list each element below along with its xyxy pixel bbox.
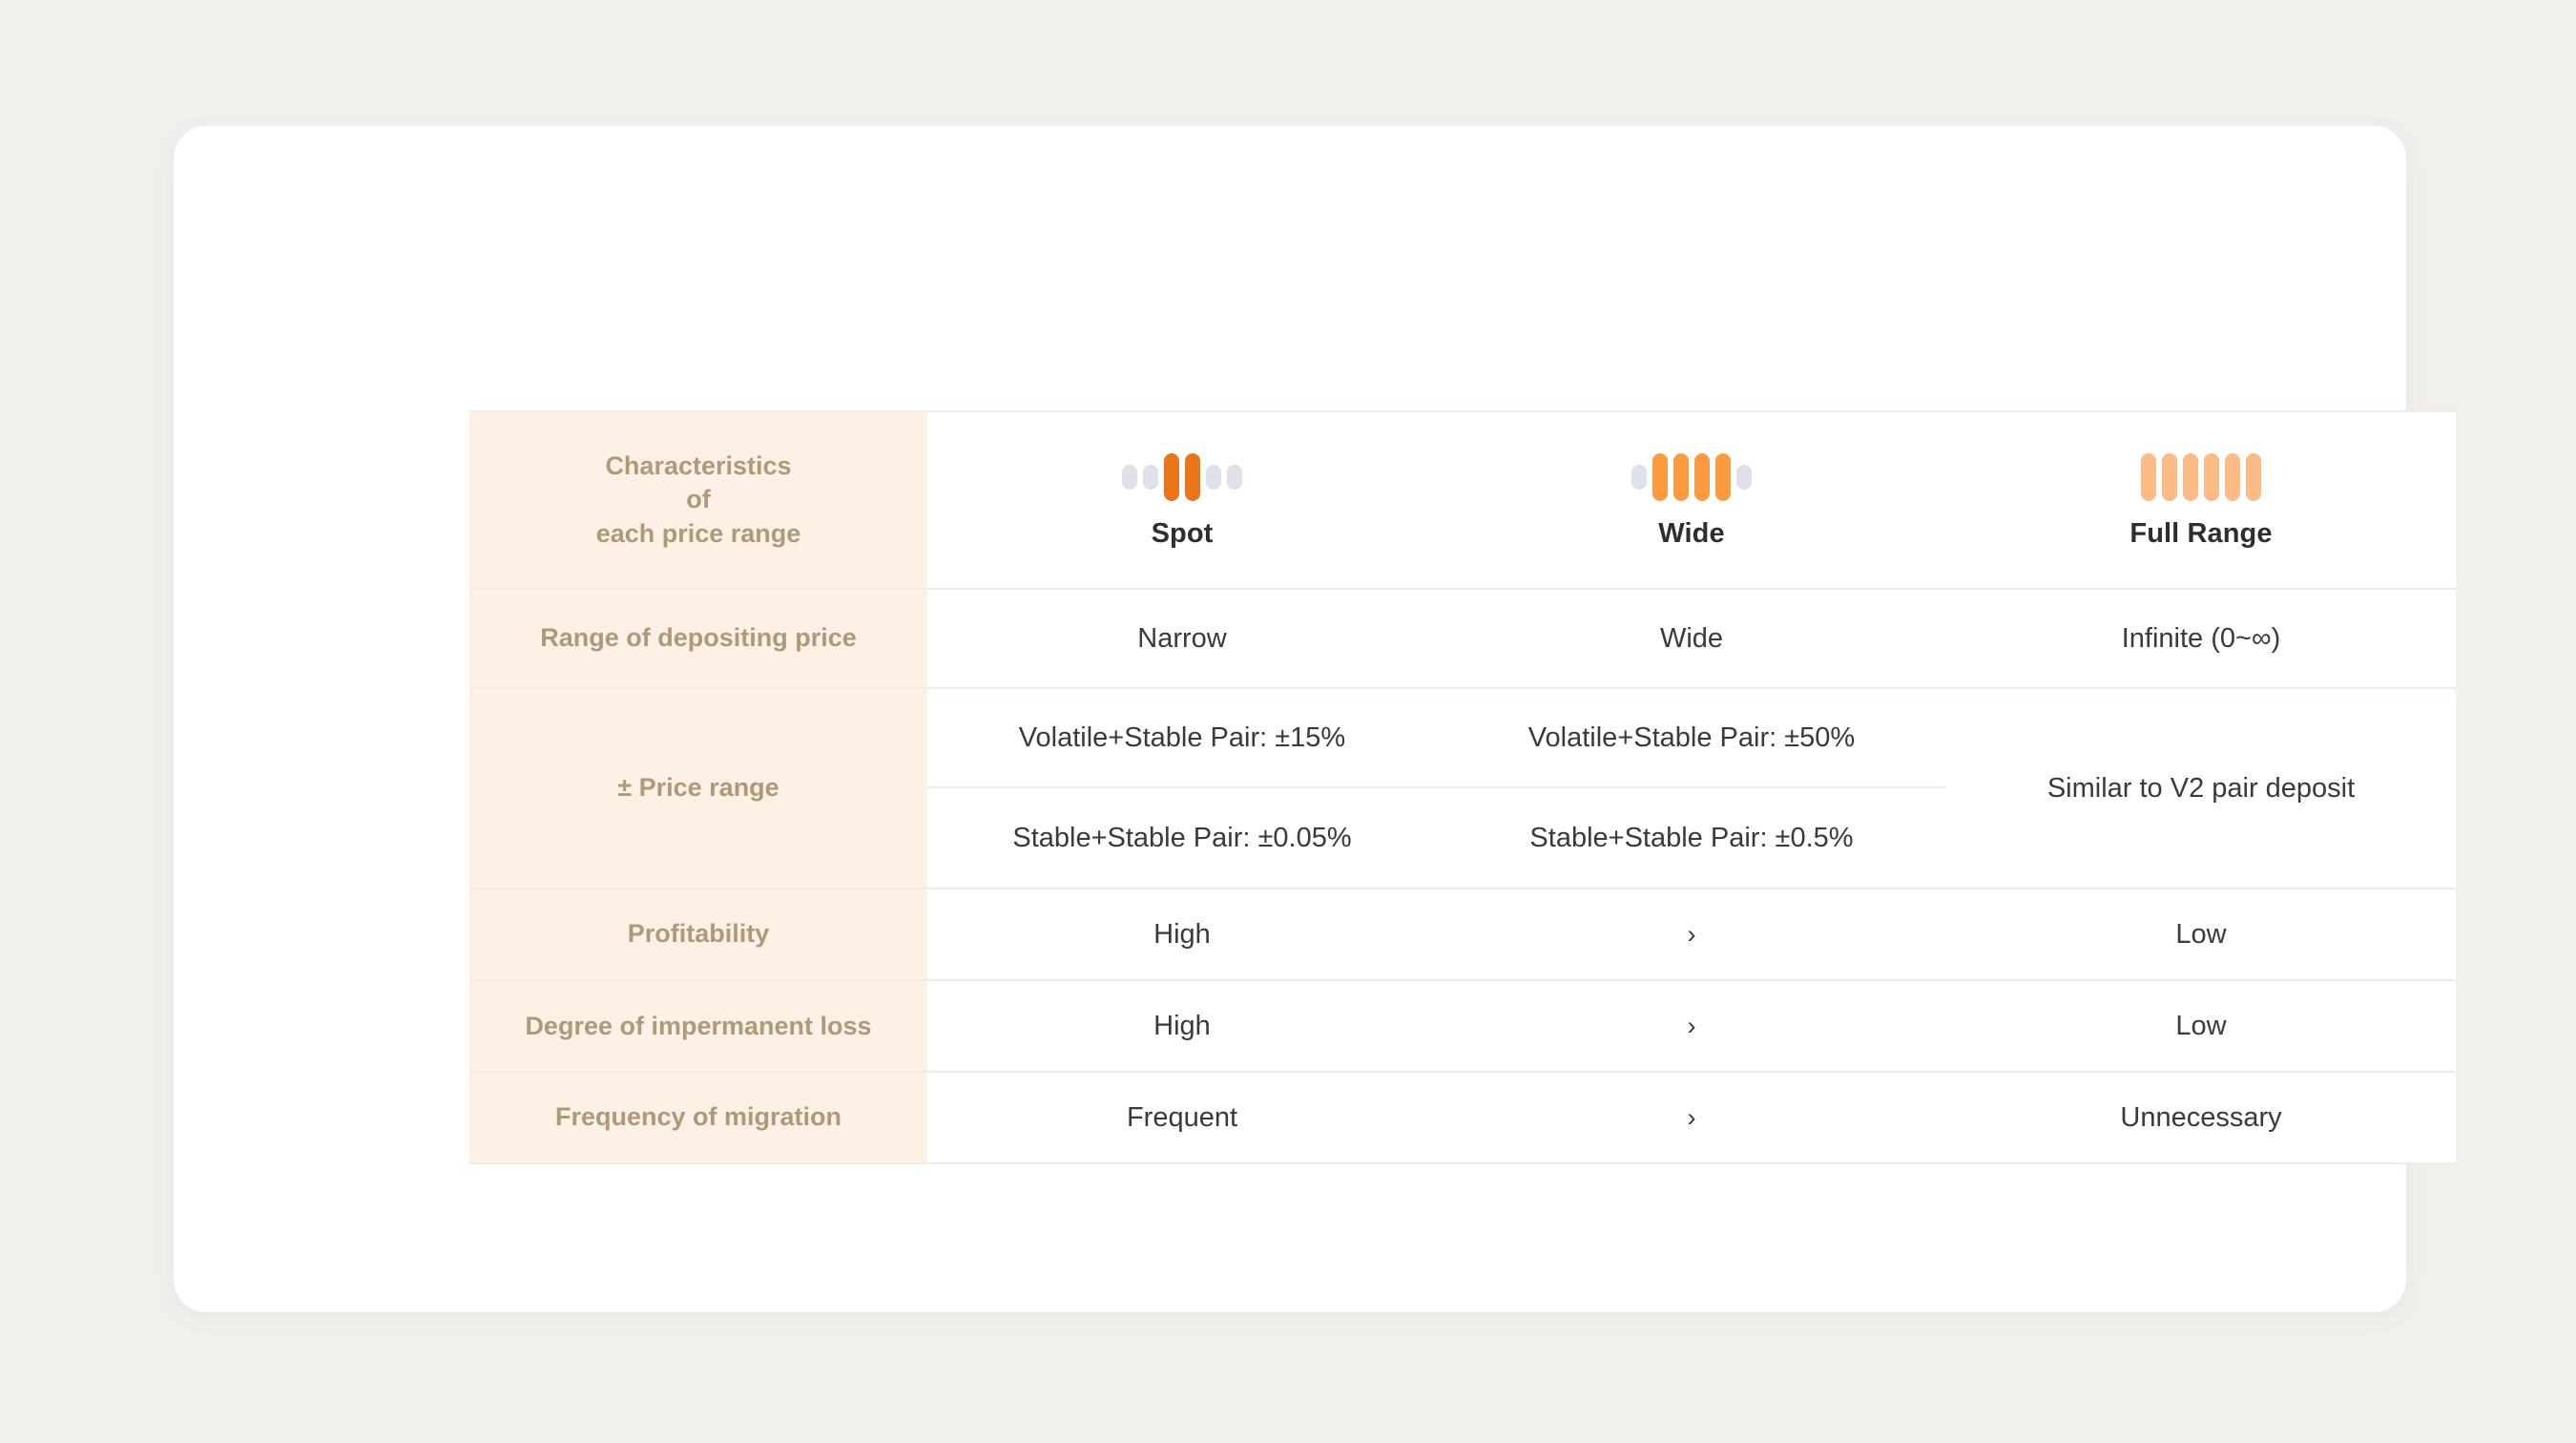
bar-active (1652, 453, 1668, 501)
bar-active (1694, 453, 1710, 501)
bar-inactive (1143, 465, 1158, 490)
bar-inactive (1122, 465, 1137, 490)
cell-deposit-range-spot: Narrow (927, 589, 1437, 688)
page-root: Characteristics of each price range (0, 0, 2576, 1443)
table-header-row: Characteristics of each price range (469, 411, 2456, 589)
bar-active (2204, 453, 2219, 501)
table-row-migration-frequency: Frequency of migration Frequent › Unnece… (469, 1072, 2456, 1163)
bar-inactive (1736, 465, 1752, 490)
column-header-full-range: Full Range (1946, 411, 2456, 589)
cell-migration-frequency-spot: Frequent (927, 1072, 1437, 1163)
table-row-impermanent-loss: Degree of impermanent loss High › Low (469, 980, 2456, 1072)
price-range-wide-stable: Stable+Stable Pair: ±0.5% (1437, 788, 1946, 888)
bar-inactive (1227, 465, 1242, 490)
bar-active (2162, 453, 2177, 501)
cell-price-range-full: Similar to V2 pair deposit (1946, 688, 2456, 889)
cell-migration-frequency-comparator: › (1437, 1072, 1946, 1163)
cell-price-range-wide: Volatile+Stable Pair: ±50% Stable+Stable… (1437, 688, 1946, 889)
bar-inactive (1206, 465, 1221, 490)
bar-active (1185, 453, 1200, 501)
header-label-line-1: Characteristics (605, 451, 791, 480)
column-header-spot: Spot (927, 411, 1437, 589)
price-range-spot-stable: Stable+Stable Pair: ±0.05% (927, 788, 1437, 888)
price-range-comparison-table: Characteristics of each price range (469, 410, 2456, 1164)
range-label-full-range: Full Range (2129, 518, 2272, 550)
header-label-line-2: of (686, 485, 710, 513)
range-label-spot: Spot (1152, 518, 1214, 550)
row-label-deposit-range: Range of depositing price (469, 589, 927, 688)
bar-active (1673, 453, 1689, 501)
row-label-price-range: ± Price range (469, 688, 927, 889)
bar-active (2183, 453, 2198, 501)
cell-impermanent-loss-full: Low (1946, 980, 2456, 1072)
bar-active (2246, 453, 2261, 501)
cell-migration-frequency-full: Unnecessary (1946, 1072, 2456, 1163)
range-bars-wide-icon (1631, 451, 1752, 503)
cell-deposit-range-full: Infinite (0~∞) (1946, 589, 2456, 688)
header-row-label: Characteristics of each price range (469, 411, 927, 589)
range-bars-full-range-icon (2141, 451, 2261, 503)
range-label-wide: Wide (1658, 518, 1724, 550)
price-range-wide-volatile: Volatile+Stable Pair: ±50% (1437, 689, 1946, 788)
bar-active (2225, 453, 2240, 501)
column-header-wide: Wide (1437, 411, 1946, 589)
price-range-spot-volatile: Volatile+Stable Pair: ±15% (927, 689, 1437, 788)
cell-price-range-spot: Volatile+Stable Pair: ±15% Stable+Stable… (927, 688, 1437, 889)
header-label-line-3: each price range (596, 519, 801, 548)
bar-active (1715, 453, 1731, 501)
bar-active (1164, 453, 1179, 501)
cell-impermanent-loss-comparator: › (1437, 980, 1946, 1072)
bar-inactive (1631, 465, 1647, 490)
cell-profitability-spot: High (927, 889, 1437, 980)
table-row-deposit-range: Range of depositing price Narrow Wide In… (469, 589, 2456, 688)
row-label-profitability: Profitability (469, 889, 927, 980)
cell-deposit-range-wide: Wide (1437, 589, 1946, 688)
cell-impermanent-loss-spot: High (927, 980, 1437, 1072)
comparison-card: Characteristics of each price range (174, 126, 2406, 1312)
table-row-price-range: ± Price range Volatile+Stable Pair: ±15%… (469, 688, 2456, 889)
row-label-migration-frequency: Frequency of migration (469, 1072, 927, 1163)
row-label-impermanent-loss: Degree of impermanent loss (469, 980, 927, 1072)
bar-active (2141, 453, 2156, 501)
cell-profitability-full: Low (1946, 889, 2456, 980)
cell-profitability-comparator: › (1437, 889, 1946, 980)
table-row-profitability: Profitability High › Low (469, 889, 2456, 980)
range-bars-spot-icon (1122, 451, 1242, 503)
